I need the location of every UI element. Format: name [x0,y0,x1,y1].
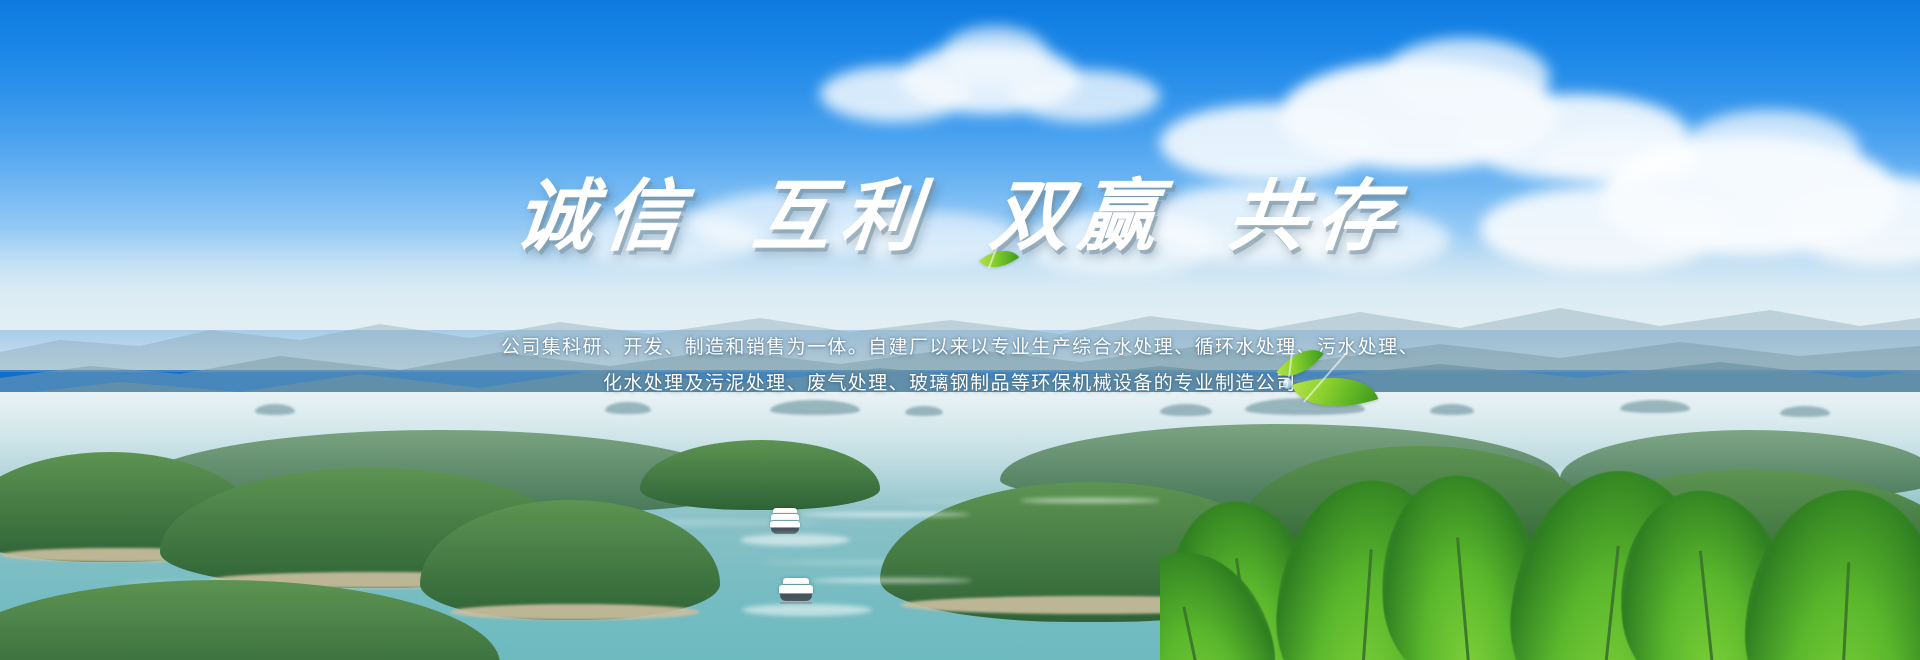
island-shoreline [450,604,700,620]
islet [255,404,295,415]
islet [770,400,860,415]
ferry-boat-upper [770,508,800,534]
islet [605,402,651,414]
boat-wake [742,604,872,616]
boat-wake [812,578,972,583]
cloud-cluster-left [780,18,1200,138]
boat-wake [1020,498,1160,503]
pine-branch [1740,485,1920,660]
subtitle-line-1: 公司集科研、开发、制造和销售为一体。自建厂以来以专业生产综合水处理、循环水处理、… [0,330,1920,366]
islet [1430,404,1474,415]
boat-wake [800,512,970,517]
headline-segment-3: 双赢 [987,178,1171,256]
banner-subtitle: 公司集科研、开发、制造和销售为一体。自建厂以来以专业生产综合水处理、循环水处理、… [0,330,1920,402]
headline-segment-2: 互利 [749,178,933,256]
ferry-boat-lower [778,578,814,606]
islet [1780,406,1830,417]
islet [905,406,943,416]
hero-banner: 诚信 互利 双赢 共存 公司集科研、开发、制造和销售为一体。自建厂以来以专业生产… [0,0,1920,660]
dewdrop-icon [1283,378,1292,389]
boat-wake [740,534,850,546]
headline-segment-4: 共存 [1224,178,1408,256]
pine-foliage-foreground [1160,440,1920,660]
subtitle-line-2: 化水处理及污泥处理、废气处理、玻璃钢制品等环保机械设备的专业制造公司。 [0,366,1920,402]
headline-segment-1: 诚信 [512,178,696,256]
banner-headline: 诚信 互利 双赢 共存 [0,178,1920,256]
islet [1160,404,1212,416]
